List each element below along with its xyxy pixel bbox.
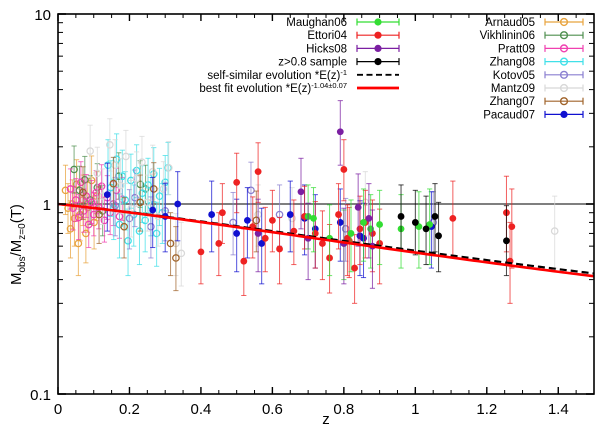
data-point	[508, 189, 515, 268]
legend-label: best fit evolution *E(z)-1.04±0.07	[199, 81, 347, 95]
legend-marker	[357, 58, 399, 65]
legend-marker	[357, 18, 399, 25]
legend-item-maughan06[interactable]: Maughan06	[286, 17, 399, 29]
legend-label: Mantz09	[491, 83, 535, 95]
data-point	[340, 140, 347, 201]
data-point	[551, 196, 557, 268]
legend-item-mantz09[interactable]: Mantz09	[491, 83, 583, 95]
legend-label: Zhang07	[490, 96, 535, 108]
data-point	[269, 190, 276, 252]
data-point	[198, 221, 205, 283]
data-point	[348, 200, 355, 272]
data-point	[208, 181, 215, 252]
legend-item-kotov05[interactable]: Kotov05	[493, 70, 583, 82]
legend-marker	[545, 111, 583, 118]
y-axis-label: Mobs/Mz=0(T)	[2, 140, 28, 290]
legend-item-self-similar-evolution[interactable]: self-similar evolution *E(z)-1	[207, 68, 399, 82]
legend-item-best-fit-evolution[interactable]: best fit evolution *E(z)-1.04±0.07	[199, 81, 399, 95]
data-point	[337, 101, 344, 166]
data-point	[174, 172, 181, 241]
data-point	[416, 192, 423, 268]
legend-label: Zhang08	[490, 57, 535, 69]
x-tick-label: 1	[411, 401, 419, 418]
legend-item-zhang08[interactable]: Zhang08	[490, 57, 583, 69]
data-point	[215, 213, 222, 276]
data-point	[337, 189, 344, 261]
data-point	[136, 200, 142, 265]
legend-marker	[545, 19, 583, 26]
data-point	[449, 181, 456, 258]
data-point	[123, 130, 129, 183]
series-zhang07	[80, 157, 260, 290]
data-point	[240, 229, 247, 296]
legend-marker	[545, 32, 583, 39]
data-point	[276, 217, 283, 283]
x-tick-label: 0.8	[333, 401, 354, 418]
legend-item-vikhlinin06[interactable]: Vikhlinin06	[480, 30, 583, 42]
legend-item-ettori04[interactable]: Ettori04	[307, 30, 399, 42]
legend-layer: Maughan06Ettori04Hicks08z>0.8 sampleself…	[199, 17, 583, 121]
data-point	[262, 207, 269, 271]
data-point	[178, 222, 184, 286]
series-z-0-8-sample	[398, 184, 510, 276]
legend-label: self-similar evolution *E(z)-1	[207, 68, 347, 82]
x-tick-label: 1.4	[548, 401, 569, 418]
legend-item-pratt09[interactable]: Pratt09	[498, 43, 583, 55]
data-point	[319, 211, 326, 280]
legend-label: Maughan06	[286, 17, 347, 29]
legend-marker	[545, 98, 583, 105]
x-tick-label: 0	[54, 401, 62, 418]
legend-item-hicks08[interactable]: Hicks08	[306, 43, 399, 55]
data-point	[412, 190, 419, 255]
legend-marker	[545, 85, 583, 92]
legend-item-z-0-8-sample[interactable]: z>0.8 sample	[278, 57, 399, 69]
legend-marker	[357, 45, 399, 52]
chart-root: 00.20.40.60.811.21.40.1110 Maughan06Etto…	[0, 0, 600, 429]
data-point	[435, 202, 442, 271]
legend-label: Pacaud07	[483, 109, 535, 121]
legend-marker	[357, 32, 399, 39]
y-tick-label: 1	[43, 197, 51, 214]
data-point	[312, 202, 319, 269]
legend-item-arnaud05[interactable]: Arnaud05	[485, 17, 583, 29]
data-point	[290, 200, 297, 265]
legend-item-pacaud07[interactable]: Pacaud07	[483, 109, 583, 121]
data-point	[369, 210, 376, 288]
x-tick-label: 0.6	[262, 401, 283, 418]
scatter-plot-svg: 00.20.40.60.811.21.40.1110 Maughan06Etto…	[0, 0, 600, 429]
data-point	[255, 143, 262, 203]
svg-text:Mobs/Mz=0(T): Mobs/Mz=0(T)	[8, 204, 28, 285]
data-points-layer	[62, 101, 558, 304]
data-point	[244, 188, 251, 258]
legend-label: Vikhlinin06	[480, 30, 535, 42]
fit-line-best-fit	[58, 204, 594, 276]
data-point	[219, 184, 226, 244]
fit-lines-layer	[58, 204, 594, 276]
x-tick-label: 0.2	[119, 401, 140, 418]
legend-marker	[545, 71, 583, 78]
legend-marker	[545, 58, 583, 65]
x-tick-label: 0.4	[191, 401, 212, 418]
legend-label: z>0.8 sample	[278, 57, 347, 69]
data-point	[310, 188, 317, 252]
legend-marker	[545, 45, 583, 52]
data-point	[255, 199, 262, 272]
data-point	[287, 181, 294, 252]
data-point	[432, 184, 439, 252]
x-tick-label: 1.2	[476, 401, 497, 418]
data-point	[376, 190, 383, 264]
y-tick-label: 0.1	[30, 387, 51, 404]
legend-label: Pratt09	[498, 43, 535, 55]
legend-label: Hicks08	[306, 43, 347, 55]
data-point	[230, 192, 236, 254]
legend-label: Kotov05	[493, 70, 535, 82]
legend-label: Arnaud05	[485, 17, 535, 29]
legend-label: Ettori04	[307, 30, 347, 42]
legend-item-zhang07[interactable]: Zhang07	[490, 96, 583, 108]
y-tick-label: 10	[34, 7, 51, 24]
x-axis-label: z	[322, 411, 330, 428]
data-point	[87, 125, 93, 177]
